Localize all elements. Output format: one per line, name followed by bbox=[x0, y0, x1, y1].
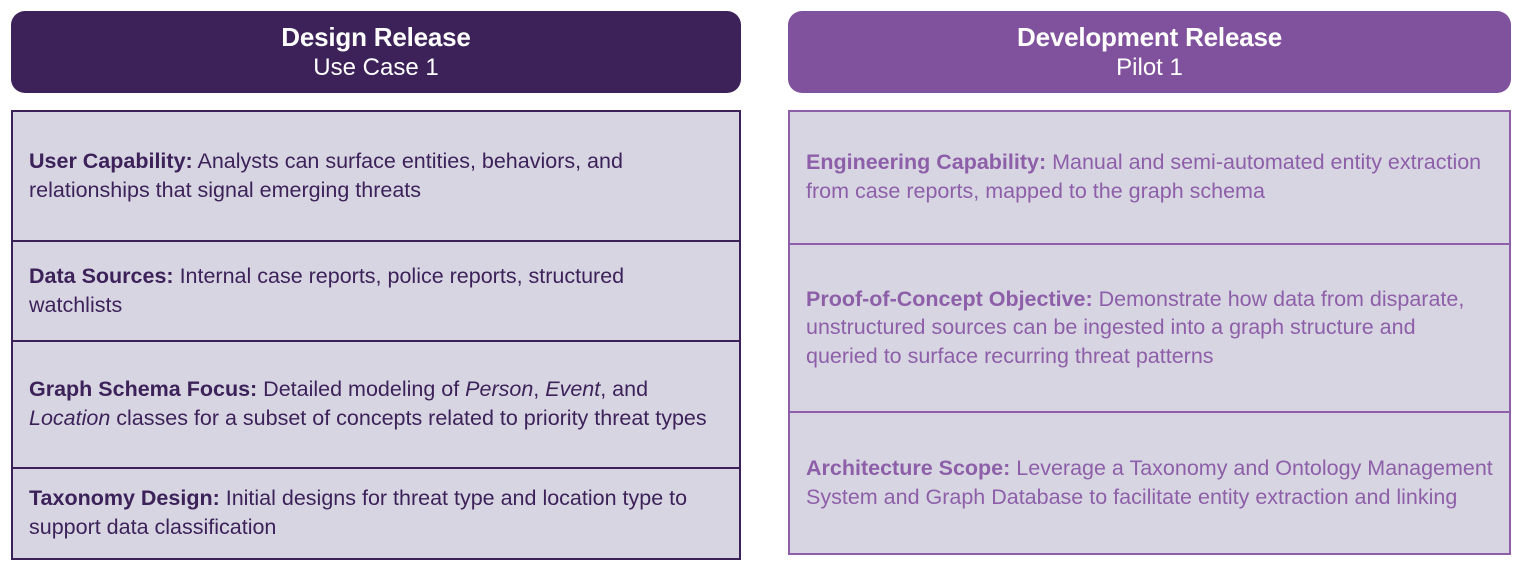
table-row: Taxonomy Design: Initial designs for thr… bbox=[13, 469, 739, 558]
row-label: Data Sources: bbox=[29, 264, 174, 288]
row-label: Proof-of-Concept Objective: bbox=[806, 287, 1093, 311]
design-release-column: Design Release Use Case 1 User Capabilit… bbox=[11, 0, 741, 560]
emphasized-term: Person bbox=[465, 377, 533, 401]
body-text: Detailed modeling of bbox=[257, 377, 465, 401]
table-row: Data Sources: Internal case reports, pol… bbox=[13, 242, 739, 342]
table-row: Engineering Capability: Manual and semi-… bbox=[790, 112, 1509, 245]
row-label: Architecture Scope: bbox=[806, 456, 1010, 480]
design-release-table: User Capability: Analysts can surface en… bbox=[11, 110, 741, 560]
emphasized-term: Location bbox=[29, 406, 110, 430]
development-release-title: Development Release bbox=[798, 24, 1501, 50]
development-release-subtitle: Pilot 1 bbox=[798, 56, 1501, 80]
development-release-header: Development Release Pilot 1 bbox=[788, 11, 1511, 93]
emphasized-term: Event bbox=[545, 377, 600, 401]
body-text: classes for a subset of concepts related… bbox=[110, 406, 706, 430]
release-comparison-board: Design Release Use Case 1 User Capabilit… bbox=[0, 0, 1528, 574]
table-row: Graph Schema Focus: Detailed modeling of… bbox=[13, 342, 739, 469]
development-release-column: Development Release Pilot 1 Engineering … bbox=[788, 0, 1511, 555]
design-release-header: Design Release Use Case 1 bbox=[11, 11, 741, 93]
design-release-subtitle: Use Case 1 bbox=[21, 56, 731, 80]
row-label: User Capability: bbox=[29, 149, 193, 173]
body-text: , bbox=[533, 377, 545, 401]
body-text: , and bbox=[600, 377, 648, 401]
table-row: User Capability: Analysts can surface en… bbox=[13, 112, 739, 242]
row-label: Engineering Capability: bbox=[806, 150, 1046, 174]
design-release-title: Design Release bbox=[21, 24, 731, 50]
table-row: Architecture Scope: Leverage a Taxonomy … bbox=[790, 413, 1509, 553]
row-label: Graph Schema Focus: bbox=[29, 377, 257, 401]
row-label: Taxonomy Design: bbox=[29, 486, 220, 510]
development-release-table: Engineering Capability: Manual and semi-… bbox=[788, 110, 1511, 555]
table-row: Proof-of-Concept Objective: Demonstrate … bbox=[790, 245, 1509, 413]
